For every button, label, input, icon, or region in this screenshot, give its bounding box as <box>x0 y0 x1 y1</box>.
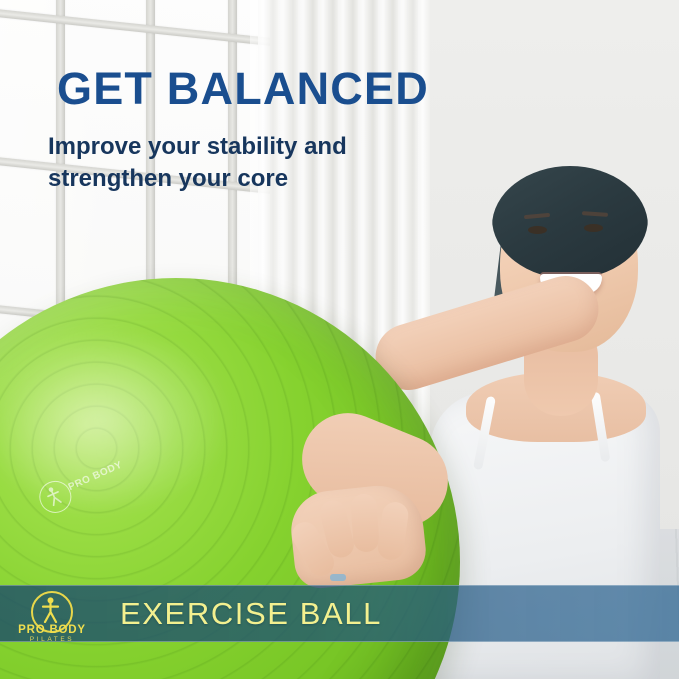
product-banner: PRO BODY PILATES EXERCISE BALL <box>0 585 679 642</box>
product-name: EXERCISE BALL <box>120 596 382 632</box>
product-ad-image: PRO BODY GET BALANCED Improve your stabi… <box>0 0 679 679</box>
brand-subtitle: PILATES <box>0 636 104 643</box>
model-eye-left <box>528 226 547 234</box>
page-title: GET BALANCED <box>57 66 429 111</box>
model-finger <box>350 493 380 553</box>
logo-figure-icon <box>40 597 61 623</box>
model-ring <box>330 574 346 581</box>
brand-logo: PRO BODY PILATES <box>0 586 104 641</box>
model-eye-right <box>584 224 603 232</box>
subtitle-text: Improve your stability and strengthen yo… <box>48 131 448 194</box>
brand-name: PRO BODY <box>0 624 104 636</box>
ball-watermark-text: PRO BODY <box>67 459 125 493</box>
